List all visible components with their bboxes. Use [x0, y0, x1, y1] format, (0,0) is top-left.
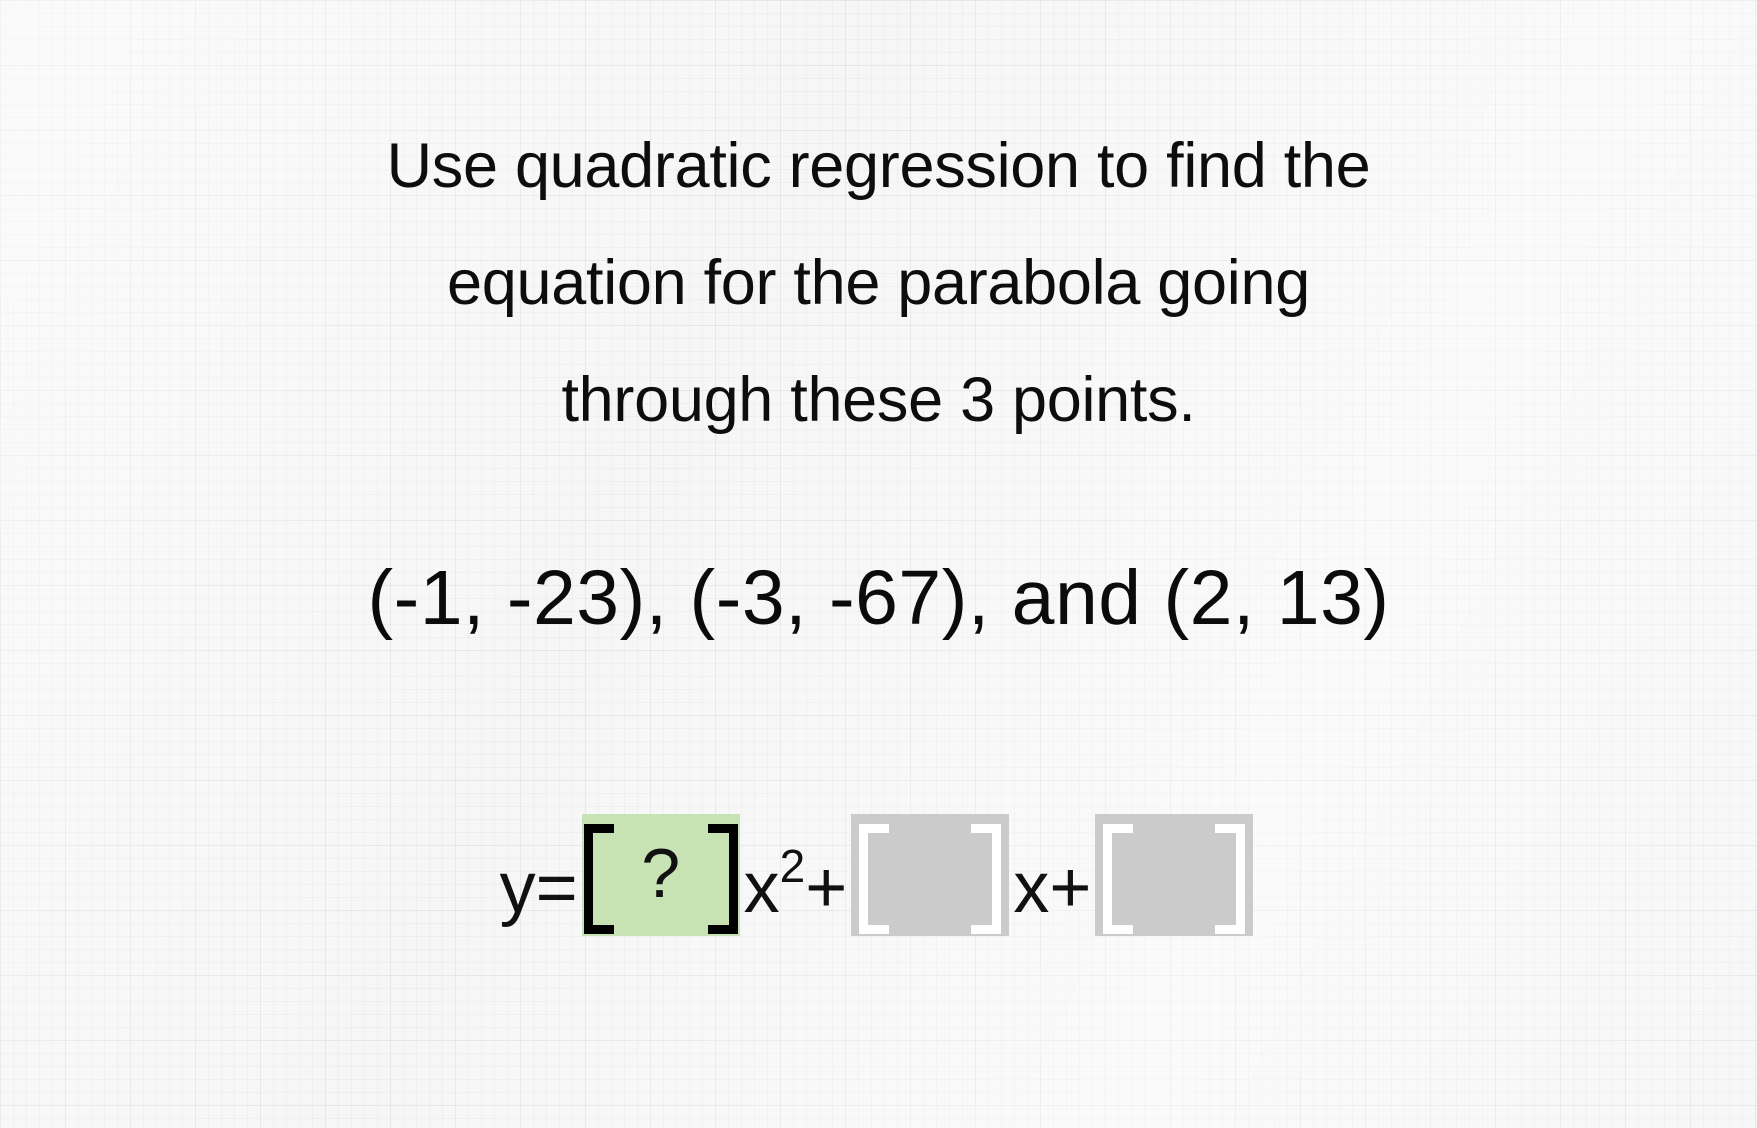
- question-prompt-line-2: equation for the parabola going: [95, 225, 1662, 342]
- slide-content: Use quadratic regression to find the equ…: [0, 0, 1757, 1128]
- answer-blank-b-linear-coefficient[interactable]: [851, 814, 1009, 936]
- equation-plus-sign-1: +: [805, 852, 847, 938]
- answer-blank-b-value: [851, 814, 1009, 936]
- equation-equals-sign: =: [536, 852, 578, 938]
- equation-x-squared-base: x: [744, 848, 780, 928]
- equation-row: y = ? x2 + x +: [0, 788, 1757, 938]
- question-prompt-line-3: through these 3 points.: [95, 342, 1662, 459]
- equation-plus-sign-2: +: [1049, 852, 1091, 938]
- answer-blank-a-value: ?: [582, 814, 740, 936]
- equation-x-squared-exponent: 2: [780, 840, 806, 892]
- given-points: (-1, -23), (-3, -67), and (2, 13): [0, 548, 1757, 648]
- answer-blank-c-value: [1095, 814, 1253, 936]
- equation-x-variable: x: [1013, 852, 1049, 938]
- equation-lhs-y: y: [500, 852, 536, 938]
- question-prompt: Use quadratic regression to find the equ…: [0, 108, 1757, 459]
- answer-blank-c-constant[interactable]: [1095, 814, 1253, 936]
- answer-blank-a-quadratic-coefficient[interactable]: ?: [582, 814, 740, 936]
- equation-x-squared: x2: [744, 852, 806, 938]
- question-prompt-line-1: Use quadratic regression to find the: [95, 108, 1662, 225]
